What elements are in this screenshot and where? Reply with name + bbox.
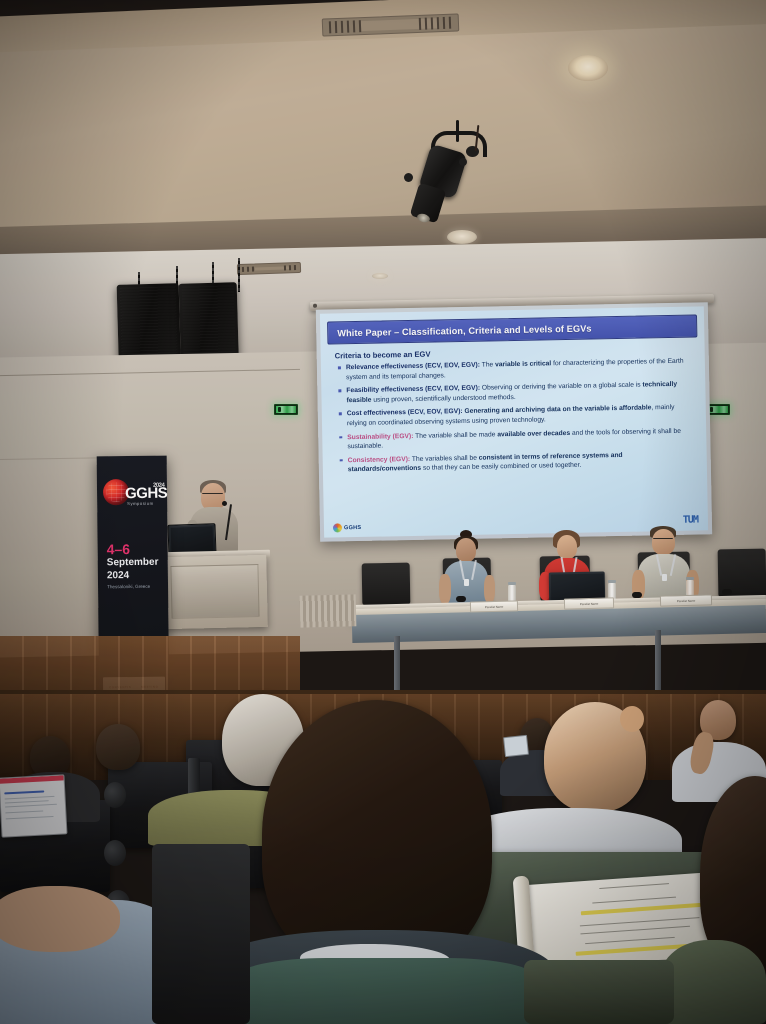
- banner-subtitle: Symposium: [127, 501, 153, 506]
- seat-knob-1: [104, 782, 126, 808]
- panelist-right-badge: [662, 574, 667, 581]
- banner-event-suffix: 2024: [153, 483, 164, 489]
- exit-sign-left-icon: [274, 404, 298, 415]
- audience-polo-foreground: [236, 958, 536, 1024]
- auditorium-photo: White Paper – Classification, Criteria a…: [0, 0, 766, 1024]
- ceiling-downlight-icon: [568, 55, 608, 81]
- booklet-highlight-1: [581, 902, 713, 915]
- banner-month: September: [107, 557, 159, 569]
- speaker-glasses-icon: [202, 493, 223, 497]
- seat-arm-foreground-2: [524, 960, 674, 1024]
- table-microphone-2-icon: [632, 592, 642, 598]
- slide-subtitle: Criteria to become an EGV: [335, 350, 431, 361]
- table-microphone-1-icon: [456, 596, 466, 602]
- gghs-globe-icon: [333, 523, 342, 532]
- seat-arm-foreground-1: [152, 844, 250, 1024]
- placard-left: Panelist Name: [470, 600, 518, 612]
- audience-tablet: [503, 735, 529, 757]
- audience-laptop: [0, 774, 68, 837]
- placard-right: Panelist Name: [660, 594, 712, 606]
- slide-bullet-1-label: Relevance effectiveness (ECV, EOV, EGV):: [346, 362, 480, 372]
- floor-wood-upper: [0, 636, 300, 694]
- placard-center: Panelist Name: [564, 597, 614, 609]
- slide-bullet-5: Consistency (EGV): The variables shall b…: [337, 449, 696, 475]
- air-vent-secondary-icon: [237, 262, 301, 275]
- slide-bullet-list: Relevance effectiveness (ECV, EOV, EGV):…: [335, 357, 696, 480]
- wall-radiator: [300, 594, 357, 627]
- banner-year: 2024: [107, 570, 129, 581]
- ceiling-downlight-3-icon: [372, 273, 388, 279]
- slide-bullet-2-label: Feasibility effectiveness (ECV, EOV, EGV…: [346, 385, 480, 395]
- slide-title: White Paper – Classification, Criteria a…: [337, 323, 592, 338]
- seat-knob-2: [104, 840, 126, 866]
- slide-bullet-3-label: Cost effectiveness (ECV, EOV, EGV):: [347, 408, 463, 417]
- panelist-right-glasses-icon: [653, 538, 673, 542]
- step-edge: [0, 690, 766, 694]
- projection-screen: White Paper – Classification, Criteria a…: [316, 302, 712, 541]
- panel-table-leg-2: [655, 630, 661, 692]
- slide-bullet-4-label: Sustainability (EGV):: [347, 433, 413, 441]
- gghs-footer-label: GGHS: [344, 524, 361, 530]
- panel-chair-1: [362, 563, 411, 606]
- placard-center-label: Panelist Name: [580, 601, 599, 605]
- audience-member-back-4: [96, 724, 140, 770]
- slide-bullet-1: Relevance effectiveness (ECV, EOV, EGV):…: [335, 357, 694, 383]
- audience-ear-icon: [620, 706, 644, 732]
- slide-bullet-4: Sustainability (EGV): The variable shall…: [336, 426, 695, 452]
- slide-footer-logo-left: GGHS: [333, 523, 361, 533]
- ceiling-downlight-2-icon: [447, 230, 477, 244]
- podium: [162, 555, 268, 629]
- panelist-left-badge: [464, 579, 469, 586]
- table-microphone-3-icon: [722, 589, 732, 595]
- banner-dates: 4–6: [107, 541, 131, 557]
- tum-logo: TUM: [683, 514, 698, 525]
- placard-right-label: Panelist Name: [677, 598, 696, 602]
- slide-bullet-2: Feasibility effectiveness (ECV, EOV, EGV…: [335, 380, 694, 406]
- audience-shoulder-foreground-right: [660, 940, 766, 1024]
- panel-table-leg-1: [394, 636, 400, 698]
- banner-location: Thessaloniki, Greece: [107, 584, 150, 589]
- slide-header-bar: White Paper – Classification, Criteria a…: [327, 314, 697, 344]
- placard-left-label: Panelist Name: [485, 604, 504, 608]
- podium-microphone-head-icon: [222, 501, 227, 506]
- audience-arm-foreground-left: [0, 886, 120, 952]
- presentation-slide: White Paper – Classification, Criteria a…: [320, 306, 708, 537]
- slide-bullet-3: Cost effectiveness (ECV, EOV, EGV): Gene…: [336, 403, 695, 429]
- slide-bullet-5-label: Consistency (EGV):: [348, 456, 411, 464]
